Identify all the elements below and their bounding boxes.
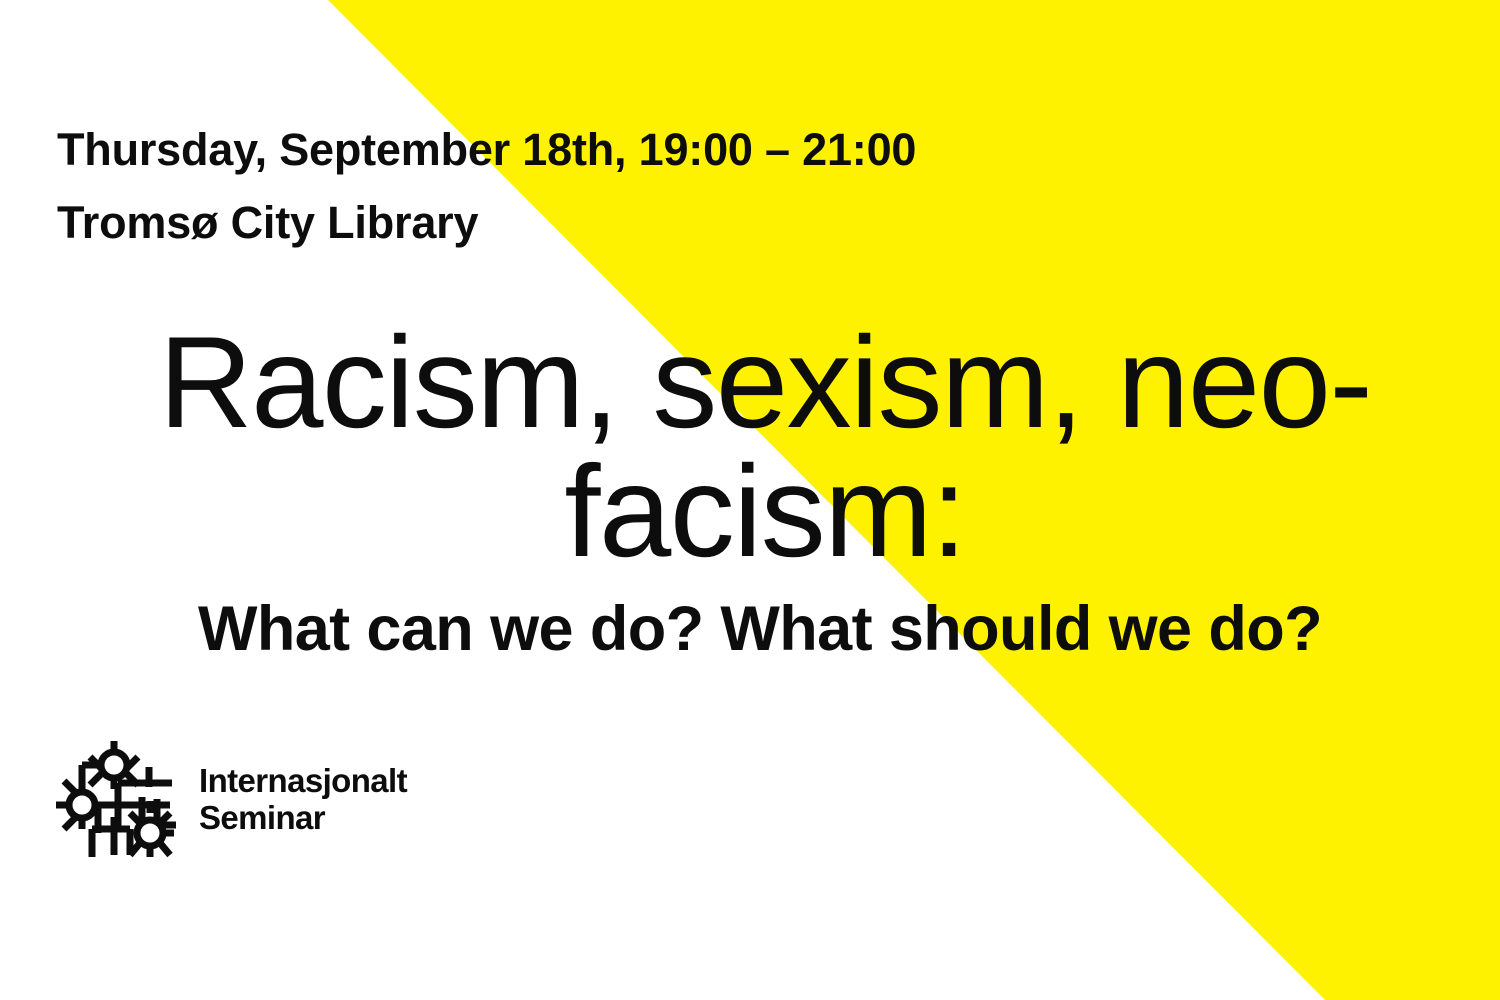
poster-content: Thursday, September 18th, 19:00 – 21:00 … — [0, 0, 1500, 1000]
logo-wordmark-line-1: Internasjonalt — [199, 763, 407, 800]
event-poster: Thursday, September 18th, 19:00 – 21:00 … — [0, 0, 1500, 1000]
headline-line-2: facism: — [60, 447, 1470, 576]
event-datetime: Thursday, September 18th, 19:00 – 21:00 — [57, 114, 1257, 187]
poster-headline: Racism, sexism, neo- facism: — [60, 318, 1470, 575]
event-details: Thursday, September 18th, 19:00 – 21:00 … — [57, 114, 1257, 260]
network-mark-icon — [52, 737, 177, 862]
node-bottom-right-circle — [137, 820, 163, 846]
logo-wordmark-line-2: Seminar — [199, 800, 407, 837]
logo-wordmark: Internasjonalt Seminar — [199, 763, 407, 837]
poster-subheadline: What can we do? What should we do? — [60, 593, 1460, 665]
organization-logo: Internasjonalt Seminar — [52, 737, 407, 862]
node-left-circle — [69, 792, 95, 818]
node-top-circle — [101, 752, 127, 778]
headline-line-1: Racism, sexism, neo- — [60, 318, 1470, 447]
event-venue: Tromsø City Library — [57, 187, 1257, 260]
